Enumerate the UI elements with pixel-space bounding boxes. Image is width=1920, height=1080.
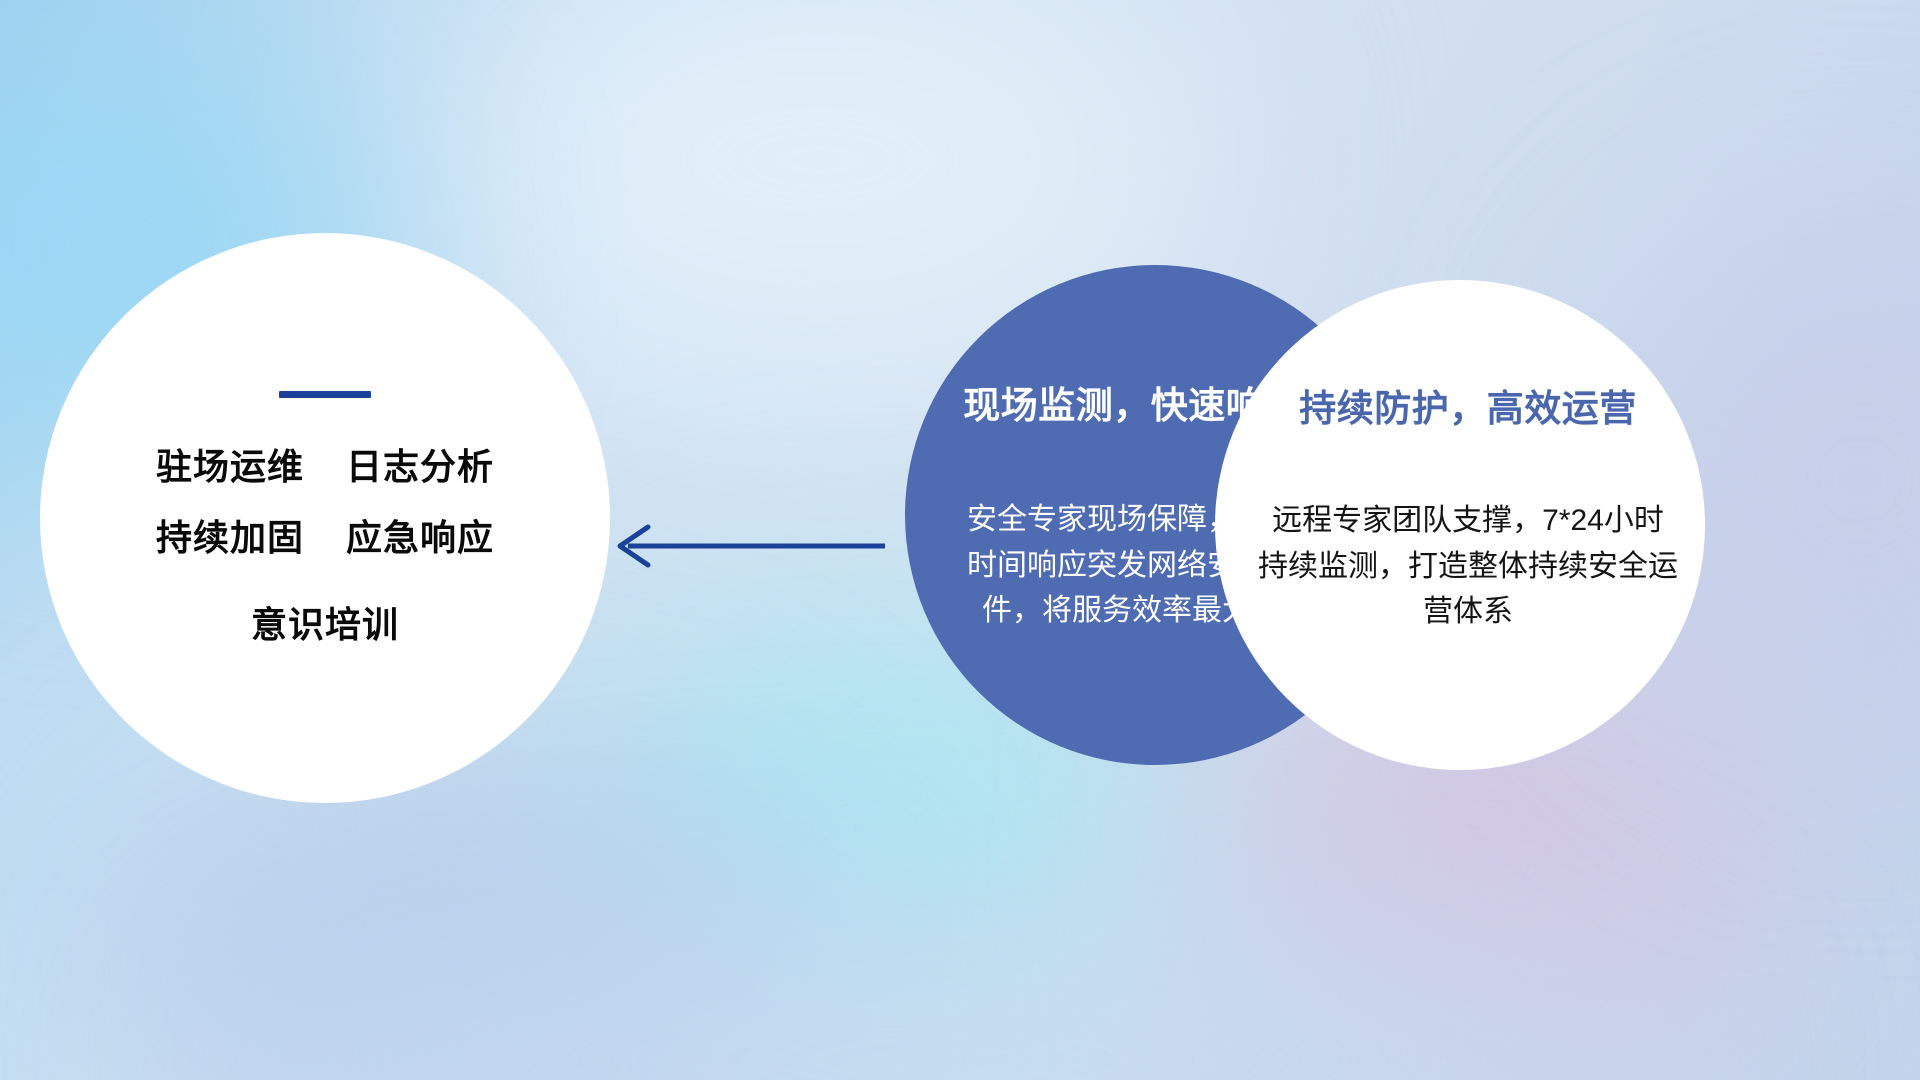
service-tag: 日志分析 bbox=[346, 444, 494, 489]
left-circle-content: 驻场运维 日志分析 持续加固 应急响应 意识培训 bbox=[40, 233, 610, 803]
accent-dash bbox=[279, 391, 371, 398]
slide-canvas: 驻场运维 日志分析 持续加固 应急响应 意识培训 现场监测，快速响应 安全专家现… bbox=[0, 0, 1920, 1080]
left-pointing-arrow-icon bbox=[600, 515, 900, 577]
right-white-circle bbox=[1215, 280, 1705, 770]
tag-row: 驻场运维 日志分析 bbox=[156, 444, 494, 489]
tag-row: 持续加固 应急响应 bbox=[156, 515, 494, 560]
service-tag: 驻场运维 bbox=[156, 444, 304, 489]
service-tag: 应急响应 bbox=[346, 515, 494, 560]
service-tag: 持续加固 bbox=[156, 515, 304, 560]
tag-row: 意识培训 bbox=[251, 602, 399, 647]
service-tag: 意识培训 bbox=[251, 602, 399, 647]
